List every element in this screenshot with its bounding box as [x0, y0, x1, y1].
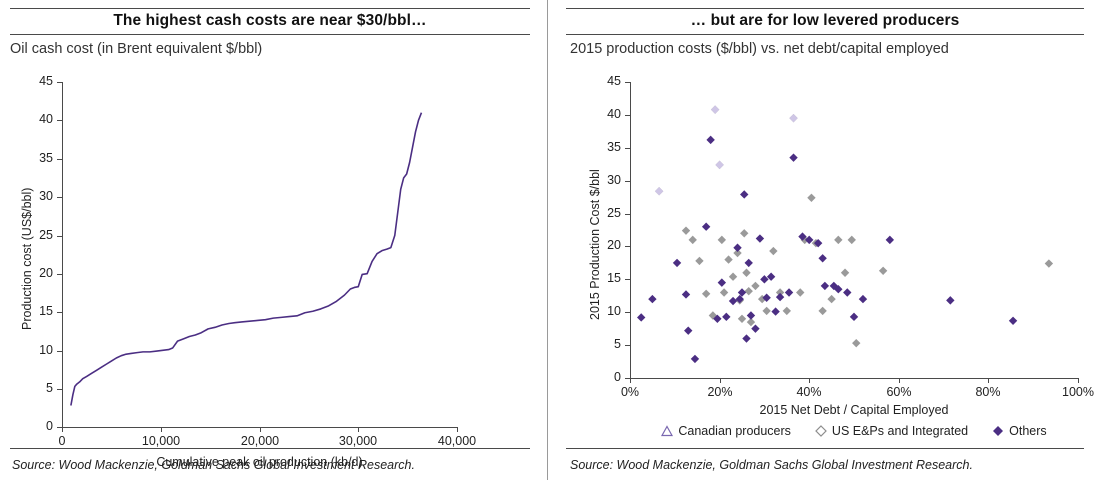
scatter-point [1009, 317, 1017, 325]
scatter-point [740, 229, 748, 237]
scatter-point [886, 236, 894, 244]
left-plot-area: 45 40 35 30 25 20 15 10 5 0 0 10,000 [0, 0, 548, 440]
diamond-icon [815, 425, 827, 437]
right-source-rule [566, 448, 1084, 449]
scatter-point [769, 247, 777, 255]
scatter-point [684, 326, 692, 334]
scatter-point [724, 255, 732, 263]
scatter-point [771, 307, 779, 315]
scatter-point [789, 114, 797, 122]
legend-item-others: Others [992, 424, 1047, 438]
scatter-point [852, 339, 860, 347]
scatter-point [682, 290, 690, 298]
scatter-point [946, 296, 954, 304]
scatter-point [637, 313, 645, 321]
triangle-icon [661, 425, 673, 437]
scatter-point [718, 236, 726, 244]
scatter-point [850, 313, 858, 321]
legend-label: Canadian producers [678, 424, 791, 438]
scatter-point [834, 236, 842, 244]
scatter-point [818, 307, 826, 315]
scatter-point [729, 297, 737, 305]
scatter-point [756, 234, 764, 242]
scatter-point [745, 287, 753, 295]
scatter-point [776, 293, 784, 301]
right-plot-area: 45 40 35 30 25 20 15 10 5 0 0% 20% 4 [548, 0, 1097, 440]
scatter-point [702, 290, 710, 298]
scatter-point [783, 307, 791, 315]
scatter-point [818, 254, 826, 262]
scatter-point [695, 257, 703, 265]
scatter-point [702, 223, 710, 231]
scatter-point [841, 269, 849, 277]
scatter-point [859, 295, 867, 303]
scatter-point [718, 278, 726, 286]
scatter-point [648, 295, 656, 303]
scatter-point [796, 288, 804, 296]
scatter-point [785, 288, 793, 296]
scatter-point [722, 313, 730, 321]
scatter-point [655, 187, 663, 195]
scatter-point [827, 295, 835, 303]
scatter-point [762, 307, 770, 315]
scatter-point [740, 190, 748, 198]
left-source-note: Source: Wood Mackenzie, Goldman Sachs Gl… [12, 458, 415, 472]
scatter-point [879, 267, 887, 275]
right-source-note: Source: Wood Mackenzie, Goldman Sachs Gl… [570, 458, 973, 472]
scatter-point [843, 288, 851, 296]
scatter-point [751, 324, 759, 332]
left-cost-curve [0, 0, 548, 470]
scatter-point [789, 153, 797, 161]
scatter-point [733, 244, 741, 252]
scatter-point [715, 161, 723, 169]
scatter-point [738, 288, 746, 296]
legend-item-us-eps-integrated: US E&Ps and Integrated [815, 424, 968, 438]
right-scatter-points [548, 0, 1097, 440]
scatter-point [747, 311, 755, 319]
scatter-point [848, 236, 856, 244]
scatter-point [807, 194, 815, 202]
left-panel: The highest cash costs are near $30/bbl…… [0, 0, 548, 480]
scatter-point [1045, 259, 1053, 267]
legend-item-canadian-producers: Canadian producers [661, 424, 791, 438]
scatter-point [742, 334, 750, 342]
right-legend: Canadian producers US E&Ps and Integrate… [630, 424, 1078, 438]
scatter-point [742, 269, 750, 277]
left-source-rule [10, 448, 530, 449]
right-panel: … but are for low levered producers 2015… [548, 0, 1097, 480]
scatter-point [673, 259, 681, 267]
scatter-point [691, 355, 699, 363]
scatter-point [738, 315, 746, 323]
scatter-point [720, 288, 728, 296]
figure-page: The highest cash costs are near $30/bbl…… [0, 0, 1097, 480]
scatter-point [689, 236, 697, 244]
legend-label: US E&Ps and Integrated [832, 424, 968, 438]
scatter-point [706, 136, 714, 144]
scatter-point [751, 282, 759, 290]
scatter-point [736, 295, 744, 303]
diamond-filled-icon [992, 425, 1004, 437]
legend-label: Others [1009, 424, 1047, 438]
scatter-point [682, 226, 690, 234]
scatter-point [711, 105, 719, 113]
scatter-point [745, 259, 753, 267]
scatter-point [821, 282, 829, 290]
scatter-point [729, 273, 737, 281]
